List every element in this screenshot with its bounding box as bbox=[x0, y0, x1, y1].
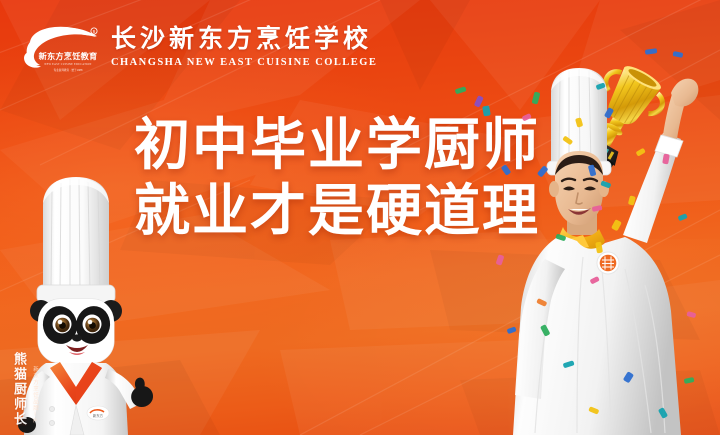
mascot-label-main: 熊猫厨师长 bbox=[10, 352, 29, 427]
headline-line-1: 初中毕业学厨师 bbox=[134, 112, 540, 178]
svg-text:新东方烹饪教育: 新东方烹饪教育 bbox=[39, 51, 98, 61]
mascot-label-sub: 新东方烹饪品牌IP bbox=[31, 366, 39, 426]
svg-text:R: R bbox=[93, 29, 96, 34]
headline-line-2: 就业才是硬道理 bbox=[134, 178, 540, 244]
svg-text:新东方: 新东方 bbox=[93, 413, 104, 418]
promo-banner: R 新东方烹饪教育 NEW EAST CUISINE EDUCATION 专业厨… bbox=[0, 0, 720, 435]
school-name-cn: 长沙新东方烹饪学校 bbox=[111, 27, 377, 52]
logo-text-group: 长沙新东方烹饪学校 CHANGSHA NEW EAST CUISINE COLL… bbox=[111, 27, 377, 70]
mascot-label: 熊猫厨师长 新东方烹饪品牌IP bbox=[10, 352, 39, 427]
brushstroke-logo-icon: R 新东方烹饪教育 NEW EAST CUISINE EDUCATION 专业厨… bbox=[22, 22, 102, 74]
school-logo[interactable]: R 新东方烹饪教育 NEW EAST CUISINE EDUCATION 专业厨… bbox=[22, 22, 377, 74]
svg-text:NEW EAST CUISINE EDUCATION: NEW EAST CUISINE EDUCATION bbox=[44, 63, 91, 66]
school-name-en: CHANGSHA NEW EAST CUISINE COLLEGE bbox=[111, 57, 377, 68]
svg-text:专业厨师教育 · 始于1988: 专业厨师教育 · 始于1988 bbox=[54, 68, 83, 72]
headline: 初中毕业学厨师 就业才是硬道理 bbox=[134, 112, 540, 243]
